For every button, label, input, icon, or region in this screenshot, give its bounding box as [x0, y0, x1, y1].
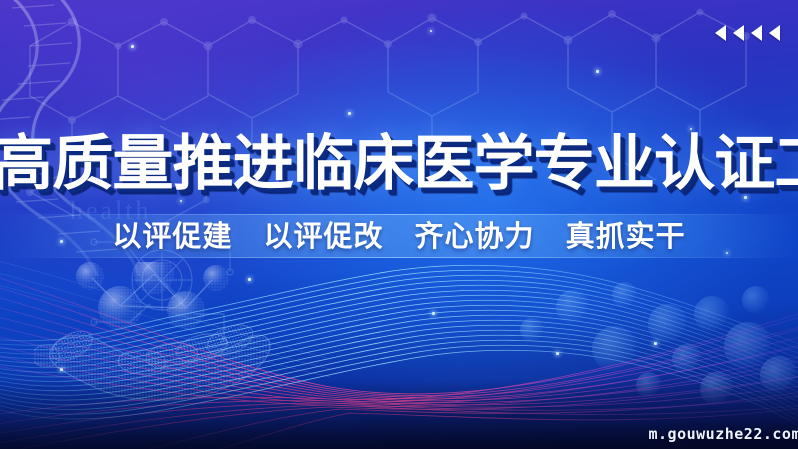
triangle-left-icon	[769, 25, 780, 41]
bokeh-circles-icon	[672, 344, 702, 374]
bokeh-circles-icon	[636, 372, 662, 398]
subtitle-segment: 以评促改	[263, 221, 383, 253]
bokeh-circles-icon	[760, 356, 798, 394]
bokeh-circles-icon	[592, 326, 638, 372]
sparkle-dot	[348, 112, 351, 115]
sparkle-dot	[248, 278, 251, 281]
watermark-text: m.gouwuzhe22.com	[649, 425, 798, 443]
sparkle-dot	[180, 200, 182, 202]
sparkle-dot	[654, 342, 657, 345]
sparkle-dot	[131, 45, 134, 48]
banner-title: 高质量推进临床医学专业认证工作	[0, 131, 798, 197]
bokeh-circles-icon	[612, 282, 638, 308]
bokeh-circles-icon	[648, 304, 688, 344]
bokeh-circles-icon	[520, 318, 544, 342]
bokeh-circles-icon	[556, 290, 590, 324]
banner-image: health	[0, 0, 798, 449]
sparkle-dot	[60, 368, 63, 371]
bokeh-circles-icon	[724, 322, 772, 370]
hand-holding-molecule-icon	[34, 262, 284, 412]
bokeh-circles-icon	[694, 296, 730, 332]
triangle-left-icon	[733, 25, 744, 41]
sparkle-dot	[556, 352, 559, 355]
subtitle-segment: 齐心协力	[415, 221, 535, 253]
bokeh-circles-icon	[700, 372, 734, 406]
triangle-left-icon	[715, 25, 726, 41]
sparkle-dot	[432, 312, 435, 315]
sparkle-dot	[430, 30, 432, 32]
banner-subtitle: 以评促建 以评促改 齐心协力 真抓实干	[0, 219, 798, 255]
triangle-left-icon	[751, 25, 762, 41]
arrow-group	[715, 25, 780, 41]
subtitle-segment: 以评促建	[112, 221, 232, 253]
bokeh-circles-icon	[742, 286, 770, 314]
subtitle-segment: 真抓实干	[566, 221, 686, 253]
sparkle-dot	[596, 70, 599, 73]
